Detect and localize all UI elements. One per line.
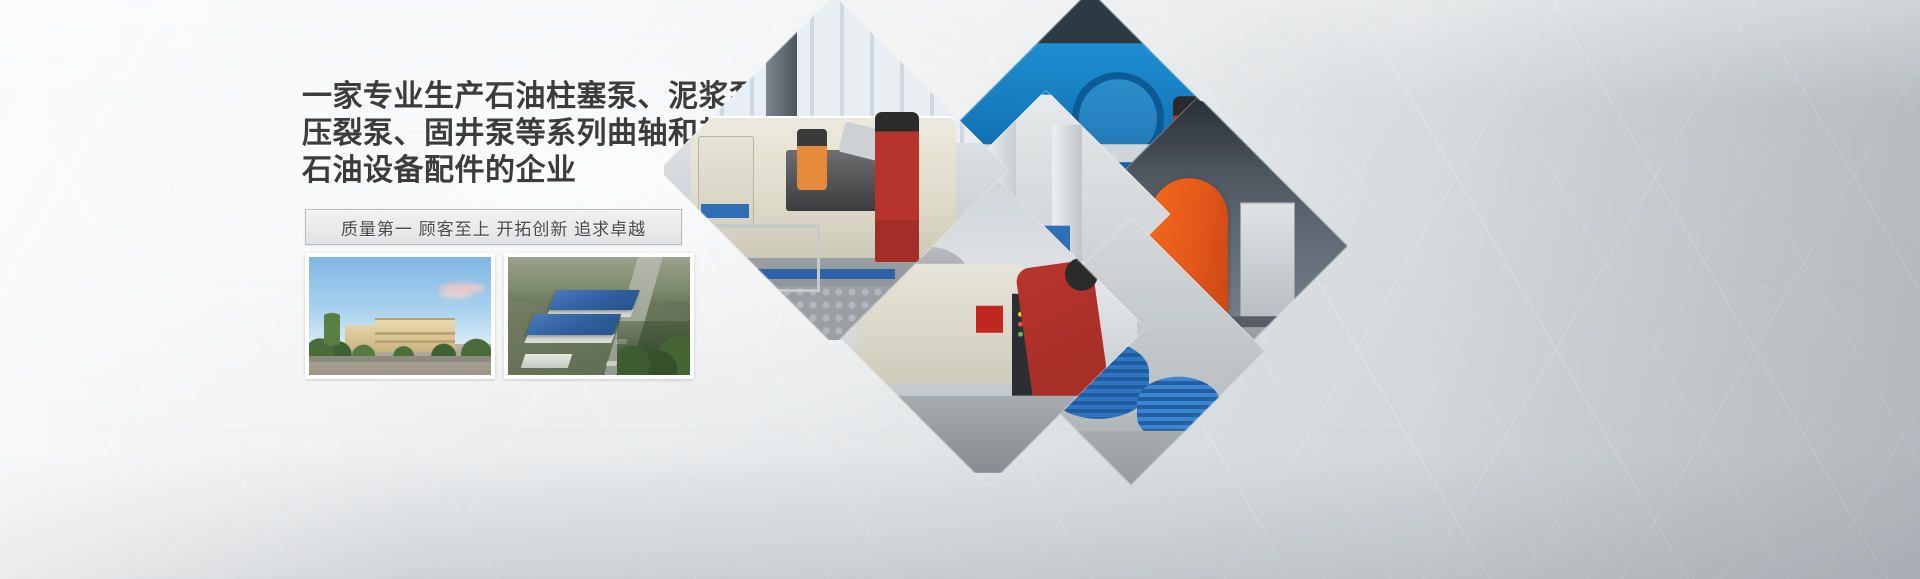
office-building-photo[interactable] [305,253,495,379]
blue-floor-mark [839,419,928,455]
company-hero-banner: 一家专业生产石油柱塞泵、泥浆泵、 压裂泵、固井泵等系列曲轴和其他 石油设备配件的… [0,0,1920,579]
headline-line-1: 一家专业生产石油柱塞泵、泥浆泵、 [302,78,732,115]
road-strip [309,356,491,362]
cloud-shape-2 [439,291,473,298]
aerial-factory-photo[interactable] [504,253,694,379]
headline-line-2: 压裂泵、固井泵等系列曲轴和其他 [302,115,732,152]
small-building [520,354,572,368]
tree-cluster [617,321,690,375]
tall-tree [324,297,340,351]
blue-roof-1 [548,290,640,310]
photo-strip [305,253,694,379]
slogan-text: 质量第一 顾客至上 开拓创新 追求卓越 [341,215,646,240]
diamond-photo-collage [700,40,1300,410]
slogan-box: 质量第一 顾客至上 开拓创新 追求卓越 [305,209,682,245]
blue-roof-2 [526,314,622,335]
